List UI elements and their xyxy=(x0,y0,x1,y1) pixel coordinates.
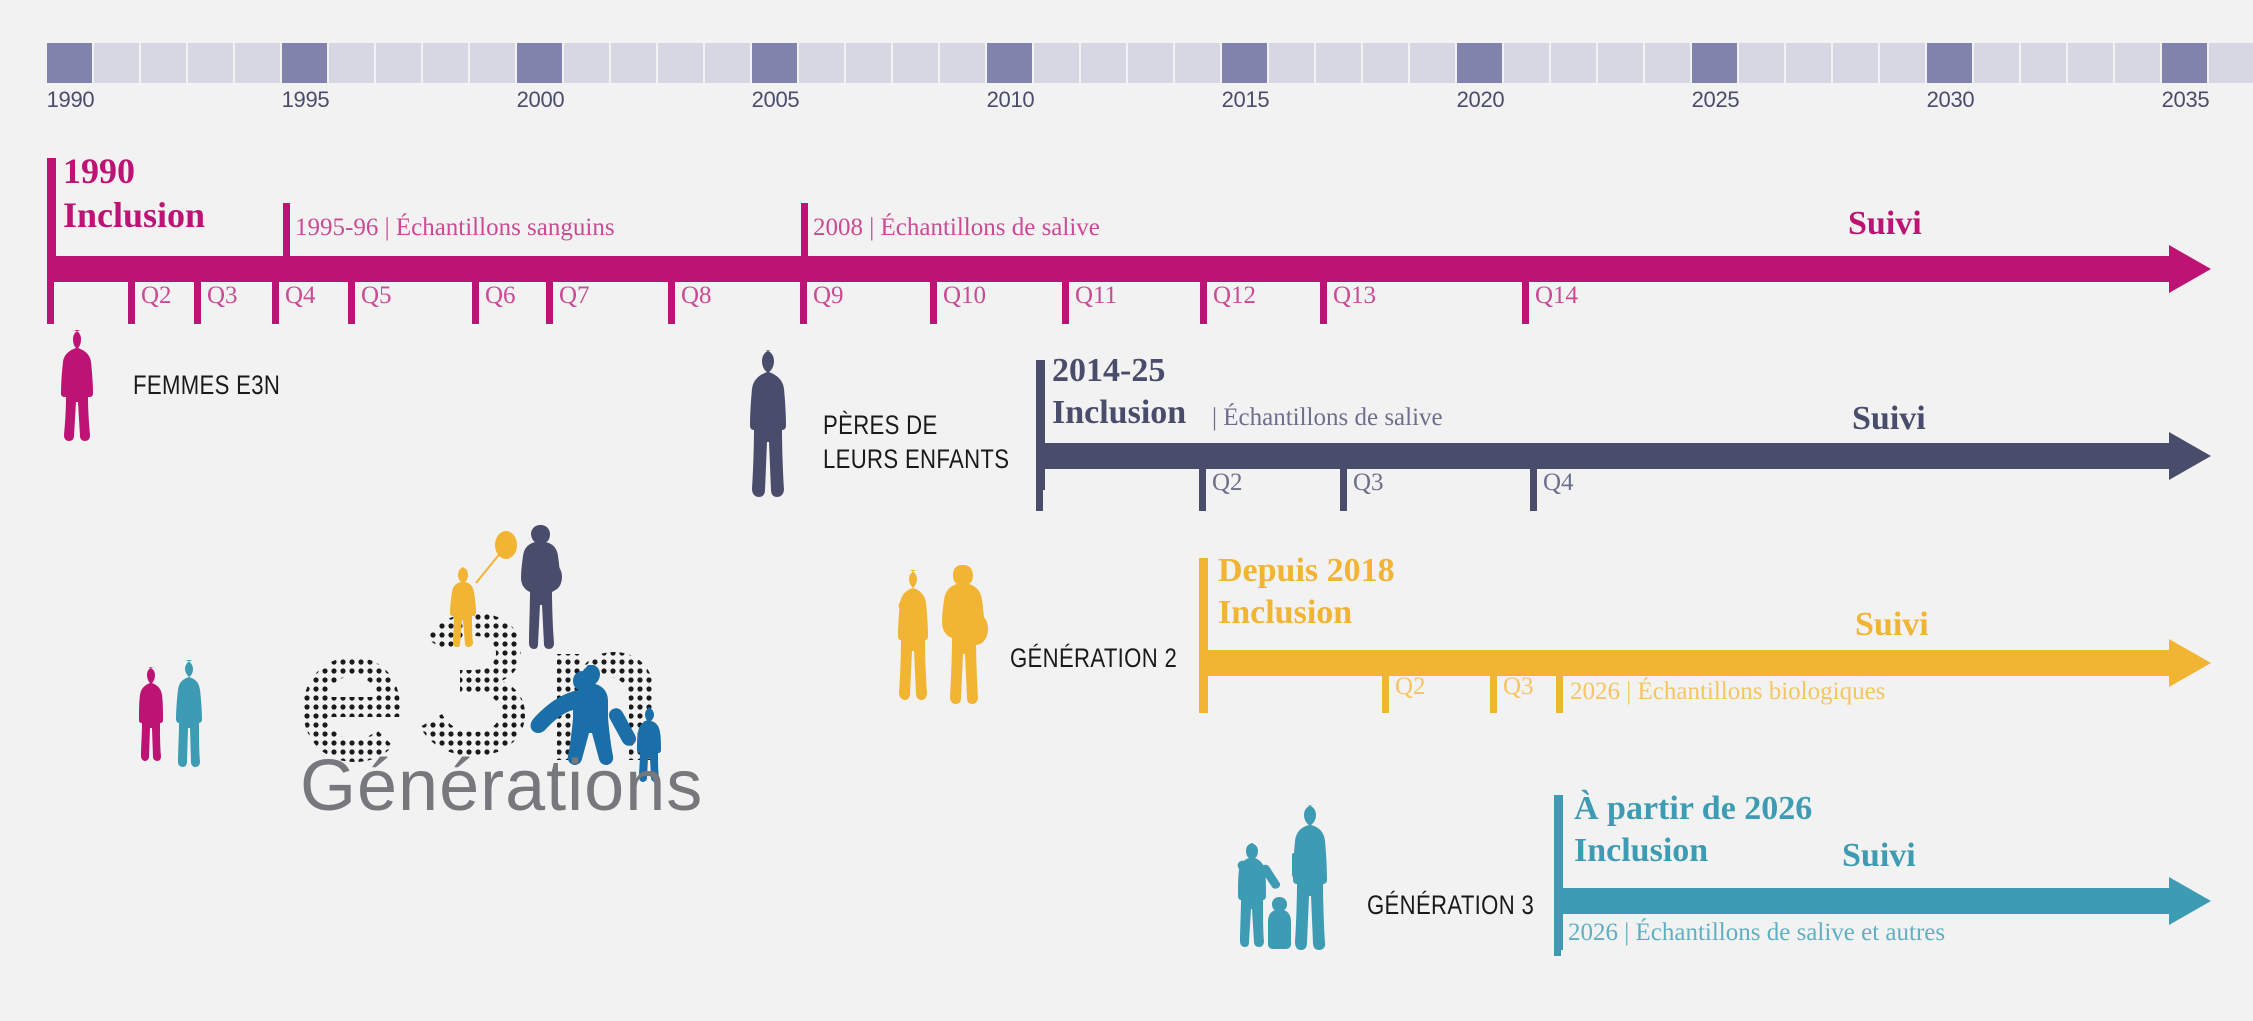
questionnaire-label: Q6 xyxy=(485,282,516,310)
year-cell xyxy=(94,43,141,83)
cohort-group-label: PÈRES DE xyxy=(823,410,938,442)
questionnaire-label: Q5 xyxy=(361,282,392,310)
family-children-silhouette-icon xyxy=(1232,805,1352,950)
year-cell xyxy=(1880,43,1927,83)
year-cell xyxy=(2021,43,2068,83)
cohort-group-label: GÉNÉRATION 2 xyxy=(1010,643,1177,675)
annotation-tick xyxy=(1556,676,1563,713)
cohort-start-title: Inclusion xyxy=(1574,832,1708,870)
year-scale-track xyxy=(47,43,2253,83)
questionnaire-label: Q2 xyxy=(1212,469,1243,497)
year-label: 2025 xyxy=(1692,87,1740,113)
year-cell xyxy=(940,43,987,83)
year-cell xyxy=(752,43,799,83)
year-cell xyxy=(611,43,658,83)
year-label: 2015 xyxy=(1222,87,1270,113)
year-cell xyxy=(1457,43,1504,83)
year-cell xyxy=(282,43,329,83)
questionnaire-tick xyxy=(348,282,355,324)
questionnaire-label: Q4 xyxy=(1543,469,1574,497)
cohort-start-year: 1990 xyxy=(63,150,135,192)
questionnaire-tick xyxy=(930,282,937,324)
questionnaire-tick xyxy=(1340,469,1347,511)
year-cell xyxy=(2209,43,2253,83)
year-cell xyxy=(376,43,423,83)
cohort-group-label: GÉNÉRATION 3 xyxy=(1367,890,1534,922)
questionnaire-tick xyxy=(546,282,553,324)
year-cell xyxy=(141,43,188,83)
logo-subtitle: Générations xyxy=(300,745,703,827)
year-cell xyxy=(423,43,470,83)
year-cell xyxy=(1316,43,1363,83)
questionnaire-label: Q3 xyxy=(207,282,238,310)
man-silhouette-icon xyxy=(745,350,800,502)
questionnaire-label: Q13 xyxy=(1333,282,1376,310)
cohort-peres-de-leurs-enfants: 2014-25 Inclusion | Échantillons de sali… xyxy=(0,350,2253,520)
year-cell xyxy=(1269,43,1316,83)
questionnaire-tick xyxy=(668,282,675,324)
year-cell xyxy=(1410,43,1457,83)
questionnaire-tick xyxy=(1490,676,1497,713)
cohort-bar-arrow xyxy=(2169,877,2211,925)
questionnaire-tick-first xyxy=(47,282,54,324)
year-label: 2010 xyxy=(987,87,1035,113)
year-cell xyxy=(987,43,1034,83)
logo-figures-top xyxy=(440,525,570,655)
questionnaire-tick xyxy=(472,282,479,324)
year-cell xyxy=(1786,43,1833,83)
cohort-bar xyxy=(1036,443,2169,469)
year-cell xyxy=(1504,43,1551,83)
year-cell xyxy=(1833,43,1880,83)
year-cell xyxy=(2162,43,2209,83)
questionnaire-label: Q11 xyxy=(1075,282,1117,310)
year-cell xyxy=(2115,43,2162,83)
questionnaire-tick xyxy=(1522,282,1529,324)
year-cell xyxy=(1692,43,1739,83)
cohort-start-title: Inclusion xyxy=(63,194,205,236)
year-cell xyxy=(188,43,235,83)
logo-figures-left xyxy=(130,655,290,905)
questionnaire-tick-first xyxy=(1199,676,1206,713)
questionnaire-tick xyxy=(272,282,279,324)
questionnaire-label: Q4 xyxy=(285,282,316,310)
annotation-label: 2008 | Échantillons de salive xyxy=(813,214,1100,242)
year-label: 1990 xyxy=(47,87,95,113)
year-cell xyxy=(329,43,376,83)
year-cell xyxy=(47,43,94,83)
cohort-bar xyxy=(1554,888,2169,914)
year-label: 2000 xyxy=(517,87,565,113)
year-cell xyxy=(1645,43,1692,83)
cohort-bar xyxy=(1199,650,2169,676)
questionnaire-tick xyxy=(194,282,201,324)
cohort-start-year: Depuis 2018 xyxy=(1218,552,1395,590)
icon-pregnant-couple-group: GÉNÉRATION 2 xyxy=(890,565,1200,715)
year-cell xyxy=(1739,43,1786,83)
cohort-start-year: À partir de 2026 xyxy=(1574,790,1812,828)
annotation-label: 2026 | Échantillons biologiques xyxy=(1570,678,1885,706)
questionnaire-label: Q14 xyxy=(1535,282,1578,310)
year-cell xyxy=(1175,43,1222,83)
year-label: 1995 xyxy=(282,87,330,113)
cohort-femmes-e3n: 1990 Inclusion 1995-96 | Échantillons sa… xyxy=(0,150,2253,320)
questionnaire-label: Q10 xyxy=(943,282,986,310)
year-cell xyxy=(705,43,752,83)
cohort-bar-arrow xyxy=(2169,639,2211,687)
questionnaire-label: Q2 xyxy=(1395,673,1426,701)
followup-label: Suivi xyxy=(1855,606,1929,644)
questionnaire-label: Q3 xyxy=(1353,469,1384,497)
year-cell xyxy=(1081,43,1128,83)
year-cell xyxy=(564,43,611,83)
questionnaire-tick xyxy=(1199,469,1206,511)
icon-family-children-group: GÉNÉRATION 3 xyxy=(1232,805,1562,955)
year-cell xyxy=(893,43,940,83)
cohort-bar xyxy=(47,256,2169,282)
year-cell xyxy=(1551,43,1598,83)
infographic-canvas: 1990199520002005201020152020202520302035… xyxy=(0,0,2253,1021)
year-cell xyxy=(658,43,705,83)
year-cell xyxy=(1034,43,1081,83)
questionnaire-tick xyxy=(800,282,807,324)
year-cell xyxy=(1598,43,1645,83)
questionnaire-tick xyxy=(1320,282,1327,324)
year-scale: 1990199520002005201020152020202520302035… xyxy=(47,43,2170,111)
questionnaire-label: Q7 xyxy=(559,282,590,310)
pregnant-couple-silhouette-icon xyxy=(890,565,995,710)
year-cell xyxy=(1927,43,1974,83)
questionnaire-tick xyxy=(1382,676,1389,713)
annotation-tick xyxy=(801,203,808,256)
year-label: 2005 xyxy=(752,87,800,113)
year-cell xyxy=(1128,43,1175,83)
cohort-start-title: Inclusion xyxy=(1218,594,1352,632)
questionnaire-label: Q3 xyxy=(1503,673,1534,701)
questionnaire-label: Q8 xyxy=(681,282,712,310)
year-cell xyxy=(799,43,846,83)
questionnaire-label: Q12 xyxy=(1213,282,1256,310)
annotation-label: 1995-96 | Échantillons sanguins xyxy=(295,214,615,242)
questionnaire-label: Q9 xyxy=(813,282,844,310)
cohort-bar-arrow xyxy=(2169,432,2211,480)
year-label: 2035 xyxy=(2162,87,2210,113)
year-cell xyxy=(1363,43,1410,83)
year-cell xyxy=(2068,43,2115,83)
annotation-label: | Échantillons de salive xyxy=(1212,404,1443,432)
year-cell xyxy=(1974,43,2021,83)
questionnaire-label: Q2 xyxy=(141,282,172,310)
year-label: 2030 xyxy=(1927,87,1975,113)
questionnaire-tick xyxy=(1062,282,1069,324)
cohort-group-label-line2: LEURS ENFANTS xyxy=(823,444,1009,476)
followup-label: Suivi xyxy=(1842,837,1916,875)
cohort-bar-arrow xyxy=(2169,245,2211,293)
annotation-label: 2026 | Échantillons de salive et autres xyxy=(1568,919,1945,947)
year-cell xyxy=(517,43,564,83)
questionnaire-tick xyxy=(1530,469,1537,511)
year-cell xyxy=(235,43,282,83)
year-cell xyxy=(846,43,893,83)
year-cell xyxy=(1222,43,1269,83)
questionnaire-tick xyxy=(128,282,135,324)
year-label: 2020 xyxy=(1457,87,1505,113)
icon-man-silhouette-group: PÈRES DE LEURS ENFANTS xyxy=(745,350,1075,510)
questionnaire-tick xyxy=(1200,282,1207,324)
year-cell xyxy=(470,43,517,83)
followup-label: Suivi xyxy=(1848,205,1922,243)
e3n-generations-logo: Générations xyxy=(140,555,660,845)
annotation-tick xyxy=(283,203,290,256)
followup-label: Suivi xyxy=(1852,400,1926,438)
